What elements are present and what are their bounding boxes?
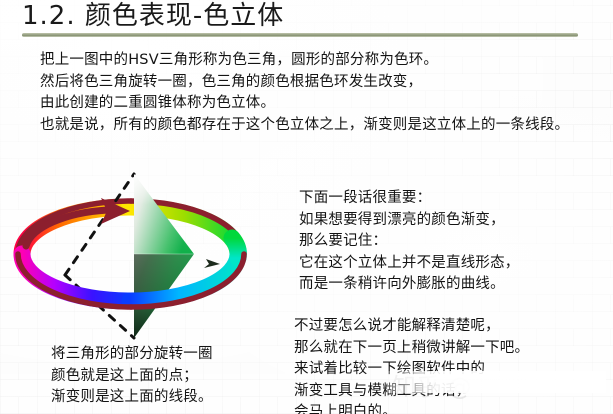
- color-solid-svg: [8, 158, 288, 348]
- next-page-paragraph: 不过要怎么说才能解释清楚呢， 那么就在下一页上稍微讲解一下吧。 来试着比较一下绘…: [294, 316, 529, 414]
- title-underline-rule: [22, 33, 578, 37]
- important-note-paragraph: 下面一段话很重要： 如果想要得到漂亮的颜色渐变， 那么要记住： 它在这个立体上并…: [299, 188, 520, 296]
- bicone-shape: [118, 174, 194, 338]
- rotation-arrow-small: [204, 259, 220, 268]
- page-title: 1.2. 颜色表现-色立体: [22, 1, 284, 31]
- figure-caption: 将三角形的部分旋转一圈 颜色就是这上面的点； 渐变则是这上面的线段。: [51, 344, 213, 409]
- title-block: 1.2. 颜色表现-色立体: [0, 0, 613, 46]
- color-solid-figure: [8, 158, 288, 348]
- intro-paragraph: 把上一图中的HSV三角形称为色三角，圆形的部分称为色环。 然后将色三角旋转一圈，…: [40, 50, 569, 136]
- page-canvas: 1.2. 颜色表现-色立体 把上一图中的HSV三角形称为色三角，圆形的部分称为色…: [0, 0, 613, 414]
